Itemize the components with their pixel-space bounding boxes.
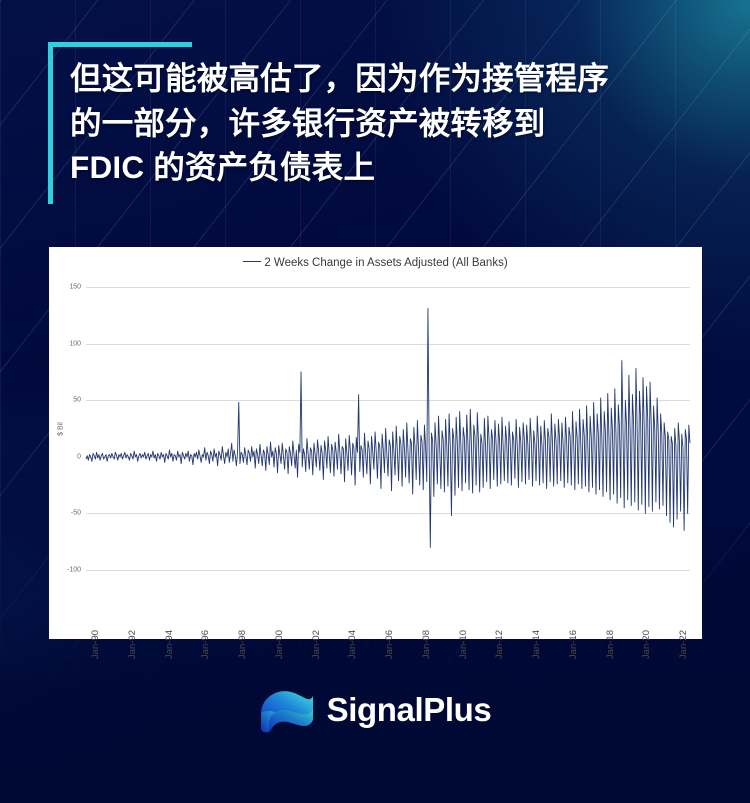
- legend-line-icon: [243, 261, 261, 262]
- y-axis-tick: 100: [69, 340, 81, 347]
- headline-block: 但这可能被高估了，因为作为接管程序 的一部分，许多银行资产被转移到 FDIC 的…: [48, 42, 706, 190]
- x-axis-tick: Jan-98: [237, 630, 248, 659]
- poster-root: 但这可能被高估了，因为作为接管程序 的一部分，许多银行资产被转移到 FDIC 的…: [0, 0, 750, 803]
- y-axis-tick: 150: [69, 284, 81, 291]
- x-axis-tick-labels: Jan-90Jan-92Jan-94Jan-96Jan-98Jan-00Jan-…: [86, 572, 690, 634]
- chart-card: 2 Weeks Change in Assets Adjusted (All B…: [49, 247, 702, 639]
- chart-plot-area: $ Bil 150100500-50-100: [86, 287, 690, 570]
- y-axis-tick: -100: [67, 567, 81, 574]
- brand-logo: SignalPlus: [0, 686, 750, 734]
- x-axis-tick: Jan-16: [568, 630, 579, 659]
- x-axis-tick: Jan-04: [347, 630, 358, 659]
- chart-title: 2 Weeks Change in Assets Adjusted (All B…: [49, 257, 702, 269]
- accent-bar-top: [48, 42, 192, 47]
- x-axis-tick: Jan-12: [494, 630, 505, 659]
- y-axis-tick: -50: [71, 510, 81, 517]
- x-axis-tick: Jan-90: [90, 630, 101, 659]
- headline-line-1: 但这可能被高估了，因为作为接管程序: [70, 56, 706, 101]
- signalplus-logo-icon: [259, 686, 315, 734]
- x-axis-tick: Jan-00: [274, 630, 285, 659]
- chart-legend-label: 2 Weeks Change in Assets Adjusted (All B…: [264, 257, 507, 269]
- x-axis-tick: Jan-06: [384, 630, 395, 659]
- x-axis-tick: Jan-02: [311, 630, 322, 659]
- x-axis-tick: Jan-92: [127, 630, 138, 659]
- page-title: 但这可能被高估了，因为作为接管程序 的一部分，许多银行资产被转移到 FDIC 的…: [48, 42, 706, 190]
- headline-line-3: FDIC 的资产负债表上: [70, 145, 706, 190]
- series-polyline: [86, 309, 690, 548]
- y-axis-tick: 0: [77, 453, 81, 460]
- x-axis-tick: Jan-10: [458, 630, 469, 659]
- chart-series-line: [86, 287, 690, 570]
- headline-line-2: 的一部分，许多银行资产被转移到: [70, 101, 706, 146]
- x-axis-tick: Jan-94: [164, 630, 175, 659]
- gridline: [86, 570, 690, 571]
- y-axis-label: $ Bil: [57, 422, 64, 436]
- x-axis-tick: Jan-20: [641, 630, 652, 659]
- y-axis-tick: 50: [73, 397, 81, 404]
- x-axis-tick: Jan-22: [678, 630, 689, 659]
- x-axis-tick: Jan-08: [421, 630, 432, 659]
- brand-name: SignalPlus: [327, 691, 492, 729]
- accent-bar-left: [48, 42, 53, 204]
- x-axis-tick: Jan-96: [200, 630, 211, 659]
- x-axis-tick: Jan-14: [531, 630, 542, 659]
- x-axis-tick: Jan-18: [605, 630, 616, 659]
